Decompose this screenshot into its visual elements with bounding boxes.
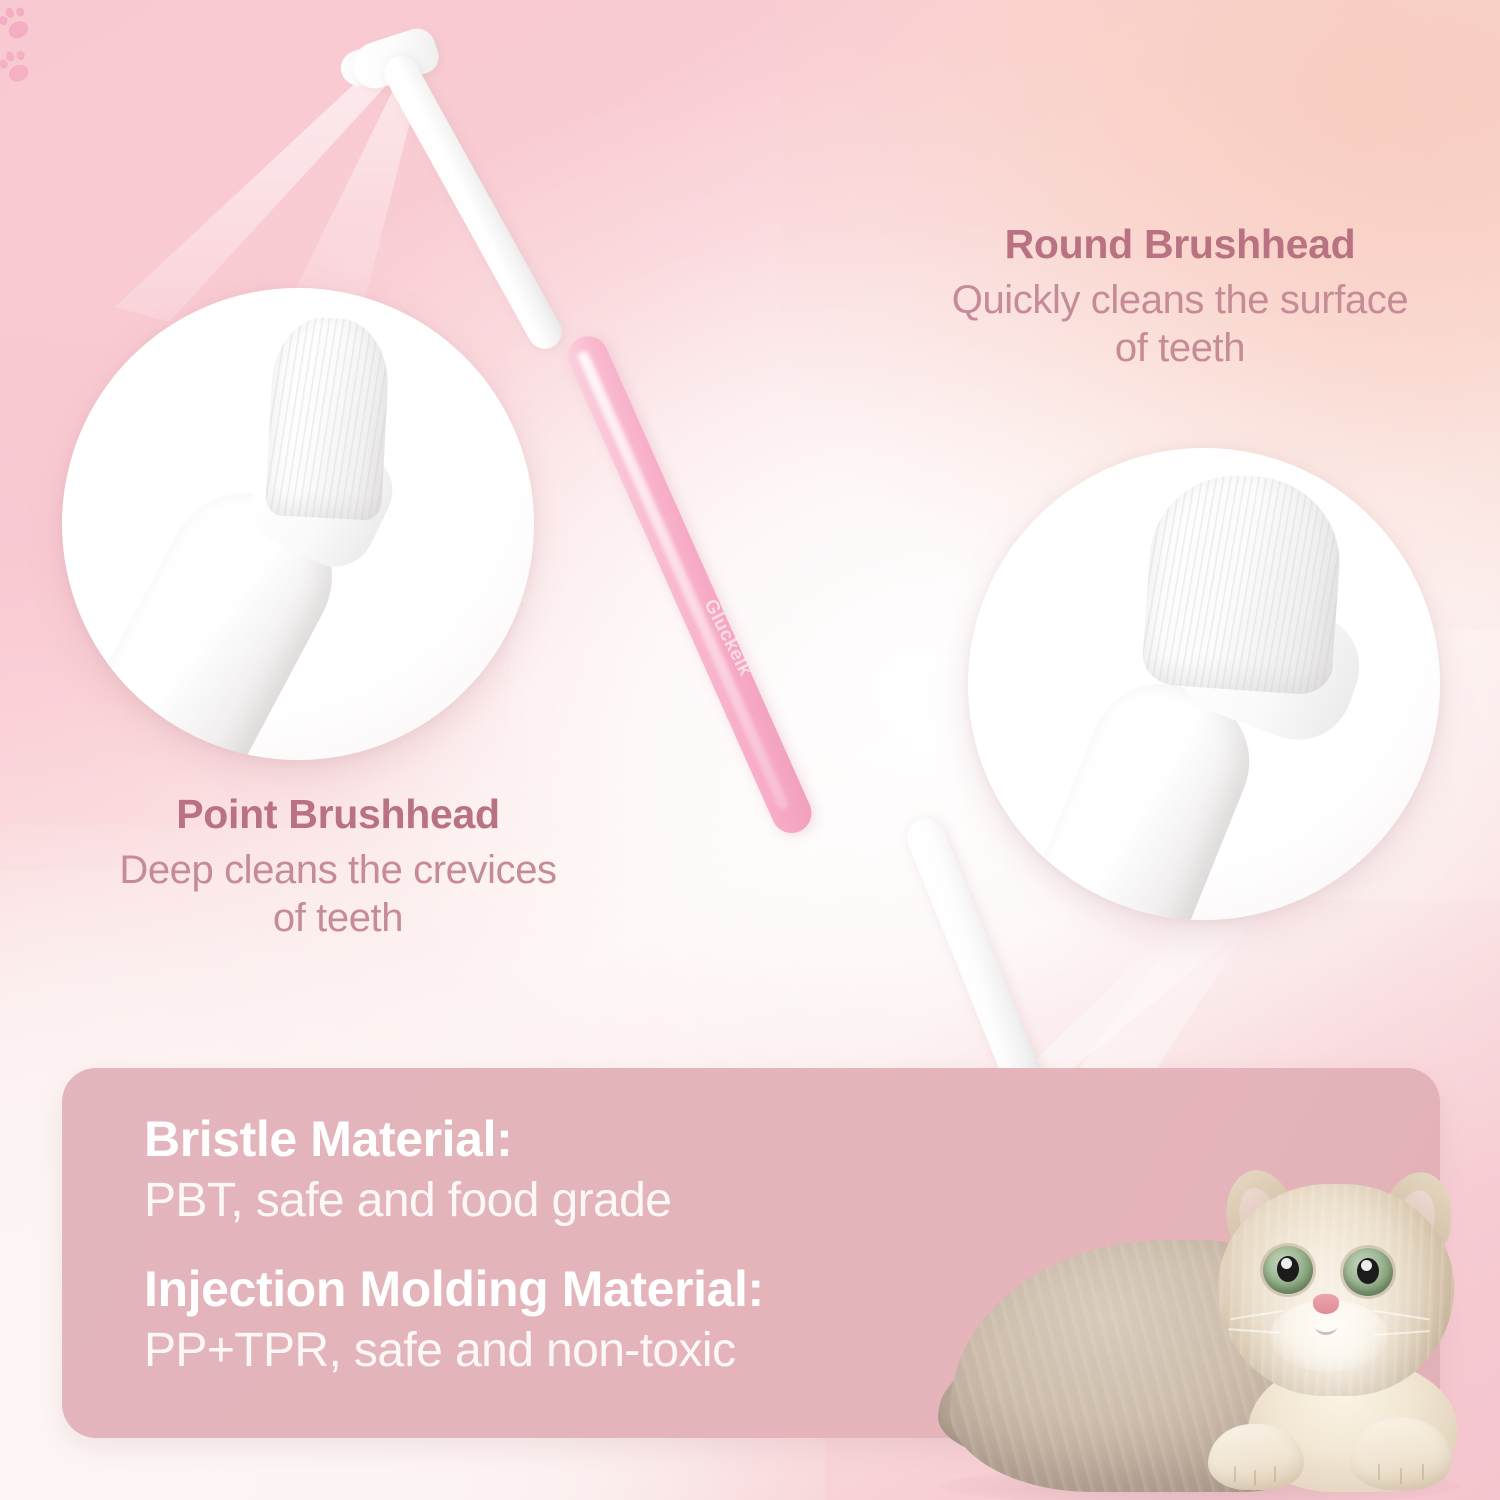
cat-mouth [1315, 1318, 1337, 1335]
feature-label-point-brushhead: Point Brushhead Deep cleans the crevices… [28, 792, 648, 942]
feature-description-line-1: Quickly cleans the surface [880, 276, 1480, 324]
product-infographic: Gluckelk Round Brushhead Quickly cleans … [0, 0, 1500, 1500]
cat-left-eye-glint [1281, 1258, 1292, 1269]
cat-right-eye-glint [1361, 1260, 1372, 1271]
feature-title: Round Brushhead [880, 222, 1480, 268]
feature-title: Point Brushhead [28, 792, 648, 838]
bristle-texture [265, 315, 391, 521]
cat-photo [930, 1148, 1490, 1500]
round-brushhead-zoom-inset [968, 448, 1440, 920]
bristle-texture [1141, 470, 1345, 697]
feature-description-line-1: Deep cleans the crevices [28, 846, 648, 894]
cat-left-paw [1208, 1424, 1304, 1490]
feature-description-line-2: of teeth [880, 324, 1480, 372]
feature-description-line-2: of teeth [28, 894, 648, 942]
feature-label-round-brushhead: Round Brushhead Quickly cleans the surfa… [880, 222, 1480, 372]
cat-nose [1313, 1294, 1339, 1314]
point-bristle-tuft [265, 315, 391, 521]
cat-right-paw [1350, 1418, 1452, 1490]
point-brushhead-zoom-inset [62, 288, 534, 760]
round-bristle-tuft [1141, 470, 1345, 697]
